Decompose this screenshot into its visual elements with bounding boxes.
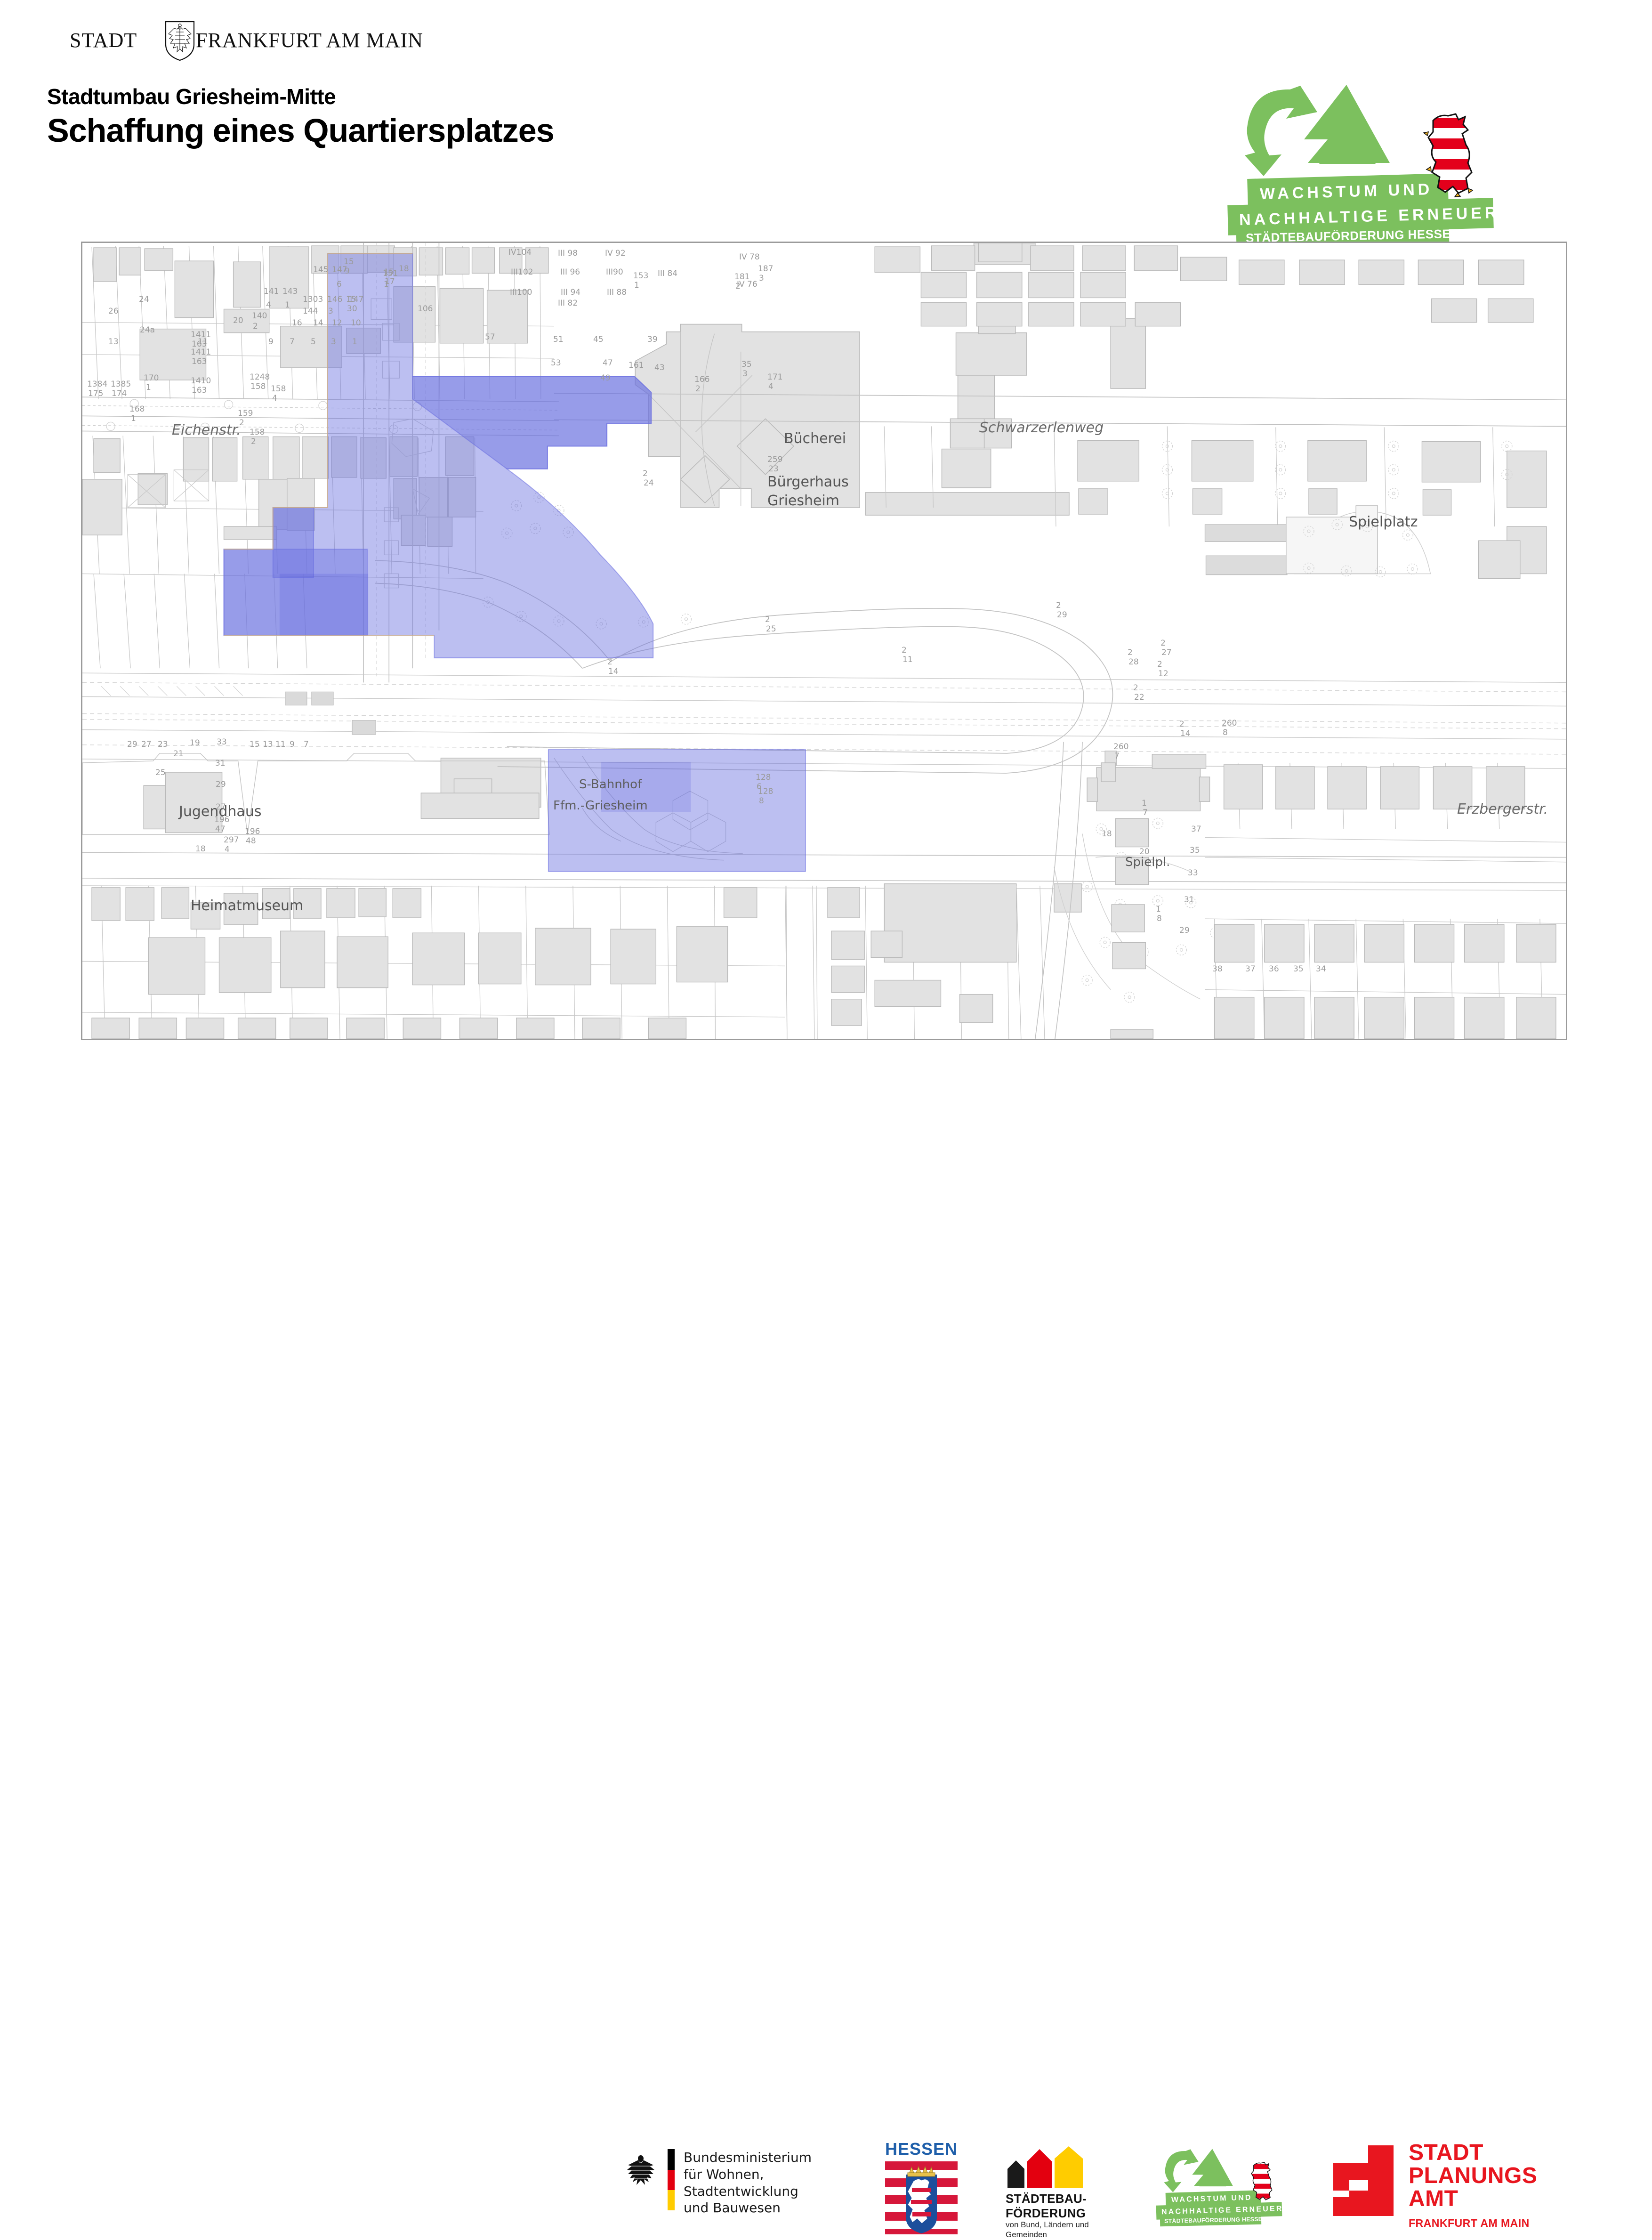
- staedtebau-line-1: STÄDTEBAU-: [1006, 2191, 1087, 2206]
- stadtplanungsamt-wordmark: STADT PLANUNGS AMT: [1409, 2142, 1537, 2211]
- wachstum-und-nachhaltige-erneuerung-logo: WACHSTUM UND NACHHALTIGE ERNEUERUNG STÄD…: [1234, 84, 1573, 225]
- bmwsb-line-1: Bundesministerium: [684, 2149, 871, 2166]
- three-houses-icon: [1006, 2146, 1083, 2188]
- hessen-wordmark: HESSEN: [877, 2141, 966, 2158]
- bmwsb-line-3: und Bauwesen: [684, 2200, 871, 2216]
- spa-line-3: AMT: [1409, 2188, 1537, 2211]
- page-title: Schaffung eines Quartiersplatzes: [47, 114, 554, 147]
- stadtplanungsamt-logo: STADT PLANUNGS AMT FRANKFURT AM MAIN: [1323, 2145, 1544, 2230]
- hessen-lion-icon-footer: [1247, 2161, 1276, 2203]
- wachstum-band-3-footer: STÄDTEBAUFÖRDERUNG HESSEN: [1160, 2214, 1261, 2226]
- map-drawing: [82, 243, 1566, 1039]
- city-logo-word-frankfurt-am-main: FRANKFURT AM MAIN: [196, 28, 423, 52]
- project-subtitle: Stadtumbau Griesheim-Mitte: [47, 86, 554, 107]
- spa-subline: FRANKFURT AM MAIN: [1409, 2217, 1530, 2230]
- hessen-coat-of-arms-icon: [885, 2161, 958, 2234]
- bmwsb-wordmark: Bundesministerium für Wohnen, Stadtentwi…: [684, 2149, 871, 2216]
- spa-line-1: STADT: [1409, 2142, 1537, 2165]
- bmwsb-line-2: für Wohnen, Stadtentwicklung: [684, 2166, 871, 2200]
- staedtebau-sub-2: Gemeinden: [1006, 2230, 1089, 2240]
- staedtebau-wordmark: STÄDTEBAU- FÖRDERUNG: [1006, 2191, 1087, 2220]
- hessen-state-logo: HESSEN: [877, 2141, 966, 2235]
- flag-red: [668, 2170, 675, 2190]
- frankfurt-f-mark-icon: [1323, 2145, 1394, 2216]
- staedtebau-line-2: FÖRDERUNG: [1006, 2206, 1087, 2221]
- flag-black: [668, 2149, 675, 2170]
- wachstum-logo-footer: WACHSTUM UND NACHHALTIGE ERNEUERUNG STÄD…: [1159, 2148, 1314, 2219]
- bmwsb-logo: Bundesministerium für Wohnen, Stadtentwi…: [626, 2146, 871, 2217]
- funding-logo-bar: Bundesministerium für Wohnen, Stadtentwi…: [0, 1069, 1652, 1168]
- german-flag-bar: [668, 2149, 675, 2210]
- city-logo-word-stadt: STADT: [70, 28, 137, 52]
- staedtebau-sub-1: von Bund, Ländern und: [1006, 2220, 1089, 2230]
- title-block: Stadtumbau Griesheim-Mitte Schaffung ein…: [47, 86, 554, 147]
- hessen-lion-icon: [1419, 112, 1479, 199]
- spa-line-2: PLANUNGS: [1409, 2165, 1537, 2188]
- staedtebau-subline: von Bund, Ländern und Gemeinden: [1006, 2220, 1089, 2240]
- bundesadler-icon: [626, 2153, 655, 2187]
- cadastral-map[interactable]: Eichenstr.SchwarzerlenwegErzbergerstr.Am…: [81, 242, 1567, 1040]
- staedtebaufoerderung-logo: STÄDTEBAU- FÖRDERUNG von Bund, Ländern u…: [992, 2146, 1110, 2236]
- frankfurt-eagle-crest-icon: [163, 20, 197, 61]
- city-of-frankfurt-logo: STADT FRANKFURT AM MAIN: [70, 24, 371, 57]
- flag-gold: [668, 2190, 675, 2210]
